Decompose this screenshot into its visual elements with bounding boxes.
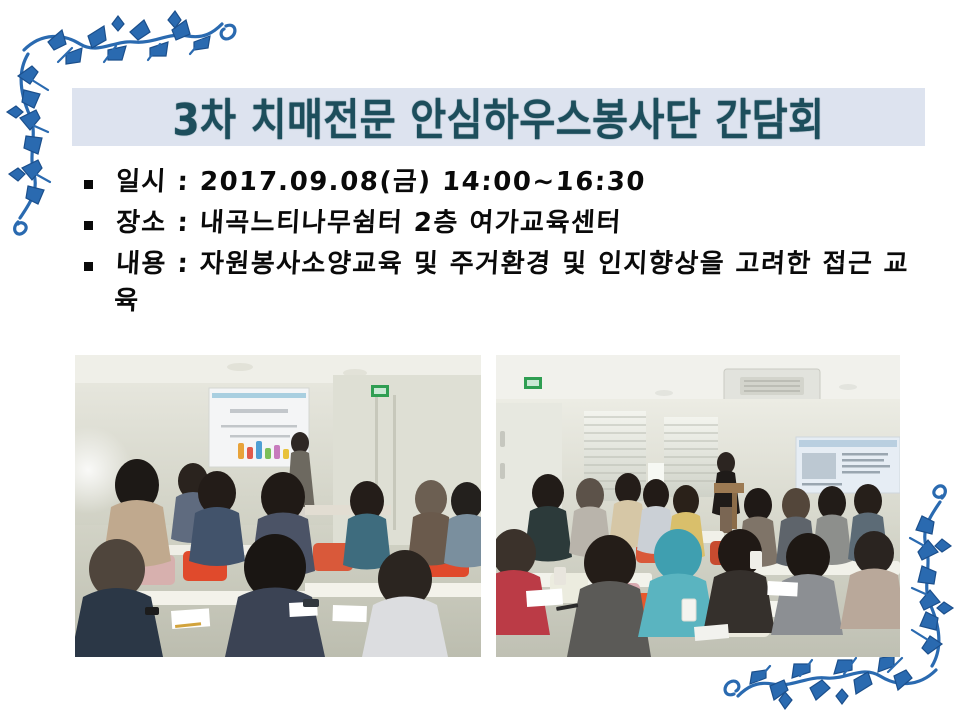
slide-canvas: 3차 치매전문 안심하우스봉사단 간담회 일시 : 2017.09.08(금) … <box>0 0 960 720</box>
list-item: 내용 : 자원봉사소양교육 및 주거환경 및 인지향상을 고려한 접근 교육 <box>84 246 924 320</box>
lecture-photo-left <box>75 355 481 657</box>
bullet-text-content: 내용 : 자원봉사소양교육 및 주거환경 및 인지향상을 고려한 접근 교육 <box>113 246 924 320</box>
lecture-photo-right <box>496 355 900 657</box>
square-bullet-icon <box>84 180 93 189</box>
list-item: 일시 : 2017.09.08(금) 14:00~16:30 <box>84 164 924 201</box>
bullet-text-location: 장소 : 내곡느티나무쉼터 2층 여가교육센터 <box>115 205 623 242</box>
square-bullet-icon <box>84 221 93 230</box>
square-bullet-icon <box>84 262 93 271</box>
bullet-text-datetime: 일시 : 2017.09.08(금) 14:00~16:30 <box>115 164 647 201</box>
bullet-list: 일시 : 2017.09.08(금) 14:00~16:30 장소 : 내곡느티… <box>84 164 924 324</box>
page-title: 3차 치매전문 안심하우스봉사단 간담회 <box>173 86 825 149</box>
slide-title-band: 3차 치매전문 안심하우스봉사단 간담회 <box>72 88 925 146</box>
list-item: 장소 : 내곡느티나무쉼터 2층 여가교육센터 <box>84 205 924 242</box>
